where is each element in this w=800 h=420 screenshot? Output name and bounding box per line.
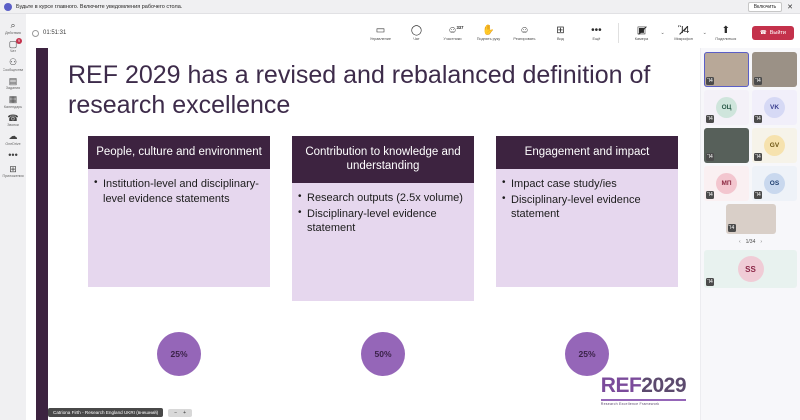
percent-badge: 25% bbox=[565, 332, 609, 376]
sidebar-item-label: Приложения bbox=[2, 174, 23, 178]
participant-row: Ἲ4 bbox=[704, 204, 797, 234]
percent-badge: 25% bbox=[157, 332, 201, 376]
microphone-glyph: Ἲ4 bbox=[707, 77, 713, 85]
app-rail: ⌕ Действия ▢ 9 Чат ⚇ Сообщества ▤ Задани… bbox=[0, 14, 26, 420]
enable-notifications-button[interactable]: Включить bbox=[748, 2, 782, 12]
percent-wrap: 25% bbox=[496, 332, 678, 376]
share-label: Поделиться bbox=[715, 37, 736, 41]
clock-icon bbox=[32, 30, 39, 37]
leave-call-button[interactable]: ☎ Выйти bbox=[752, 26, 794, 40]
slide-column-engagement: Engagement and impact Impact case study/… bbox=[496, 136, 678, 356]
ref-logo-wordmark: REF2029 bbox=[601, 374, 686, 398]
sidebar-item-label: Задания bbox=[6, 86, 20, 90]
presenter-name: Catriona Firth - Research England UKRI (… bbox=[48, 408, 163, 417]
microphone-button[interactable]: Ἲ4 Микрофон bbox=[666, 25, 702, 41]
microphone-glyph: Ἲ4 bbox=[729, 224, 735, 232]
sidebar-item-chat[interactable]: ▢ 9 Чат bbox=[0, 37, 26, 55]
apps-icon: ⊞ bbox=[9, 164, 17, 174]
teams-meeting-window: Будьте в курсе главного. Включите уведом… bbox=[0, 0, 800, 420]
camera-button[interactable]: ▣ Камера bbox=[623, 25, 659, 41]
chat-unread-badge: 9 bbox=[16, 38, 22, 44]
sidebar-item-label: Сообщества bbox=[3, 68, 24, 72]
microphone-glyph: Ἲ4 bbox=[707, 191, 713, 199]
avatar: GV bbox=[764, 135, 785, 156]
ref-logo-rule bbox=[601, 399, 686, 401]
mic-muted-icon: Ἲ4 bbox=[706, 115, 714, 123]
mic-muted-icon: Ἲ4 bbox=[706, 77, 714, 85]
column-heading: People, culture and environment bbox=[88, 136, 270, 169]
list-item: Impact case study/ies bbox=[502, 177, 670, 192]
mic-muted-icon: Ἲ4 bbox=[706, 191, 714, 199]
notification-banner-text: Будьте в курсе главного. Включите уведом… bbox=[16, 4, 182, 10]
mic-muted-icon: Ἲ4 bbox=[706, 278, 714, 286]
microphone-glyph: Ἲ4 bbox=[755, 77, 761, 85]
sidebar-item-more[interactable]: ••• bbox=[0, 148, 26, 161]
phone-hangup-icon: ☎ bbox=[760, 30, 767, 36]
participant-panel: Ἲ4 Ἲ4 ОЦ Ἲ4 VK Ἲ4 Ἲ4 GV Ἲ4 bbox=[700, 48, 800, 420]
close-icon[interactable]: ✕ bbox=[787, 3, 796, 11]
column-body: Research outputs (2.5x volume) Disciplin… bbox=[292, 183, 474, 301]
list-item: Research outputs (2.5x volume) bbox=[298, 191, 466, 206]
avatar: ОЦ bbox=[716, 97, 737, 118]
slide-column-contribution: Contribution to knowledge and understand… bbox=[292, 136, 474, 356]
react-button[interactable]: ☺ Реагировать bbox=[506, 25, 542, 41]
participant-tile-avatar[interactable]: ОЦ Ἲ4 bbox=[704, 90, 749, 125]
participant-row: SS Ἲ4 bbox=[704, 250, 797, 288]
sidebar-item-communities[interactable]: ⚇ Сообщества bbox=[0, 55, 26, 73]
percent-wrap: 50% bbox=[292, 332, 474, 376]
meeting-toolbar: 01:51:31 ▭ Управление ◯ Чат ☺ 337 Участн… bbox=[26, 14, 800, 52]
microphone-glyph: Ἲ4 bbox=[707, 278, 713, 286]
briefcase-icon: ▤ bbox=[9, 76, 18, 86]
view-label: Вид bbox=[557, 37, 564, 41]
column-heading: Engagement and impact bbox=[496, 136, 678, 169]
cloud-icon: ☁ bbox=[9, 131, 18, 141]
percent-wrap: 25% bbox=[88, 332, 270, 376]
view-button[interactable]: ⊞ Вид bbox=[542, 25, 578, 41]
bell-icon: ⌕ bbox=[10, 20, 15, 30]
mic-muted-icon: Ἲ4 bbox=[728, 224, 736, 232]
sidebar-item-assignments[interactable]: ▤ Задания bbox=[0, 74, 26, 92]
zoom-controls[interactable]: − + bbox=[168, 409, 192, 417]
share-button[interactable]: ⬆ Поделиться bbox=[708, 25, 744, 41]
calendar-icon: ▦ bbox=[9, 94, 18, 104]
participant-row: МП Ἲ4 OS Ἲ4 bbox=[704, 166, 797, 201]
bullet-list: Impact case study/ies Disciplinary-level… bbox=[502, 177, 670, 222]
list-item: Institution-level and disciplinary-level… bbox=[94, 177, 262, 206]
list-item: Disciplinary-level evidence statement bbox=[298, 207, 466, 236]
percent-badge: 50% bbox=[361, 332, 405, 376]
chat-button[interactable]: ◯ Чат bbox=[398, 25, 434, 41]
hand-icon: ✋ bbox=[482, 25, 494, 36]
raise-hand-button[interactable]: ✋ Поднять руку bbox=[470, 25, 506, 41]
microphone-off-icon: Ἲ4 bbox=[678, 25, 689, 36]
sidebar-item-label: Чат bbox=[10, 49, 16, 53]
meeting-timer: 01:51:31 bbox=[32, 30, 66, 37]
next-page-button[interactable]: › bbox=[760, 239, 762, 245]
column-body: Impact case study/ies Disciplinary-level… bbox=[496, 169, 678, 287]
chevron-down-icon[interactable]: ⌄ bbox=[703, 30, 707, 36]
raise-hand-label: Поднять руку bbox=[477, 37, 500, 41]
manage-label: Управление bbox=[370, 37, 391, 41]
emoji-icon: ☺ bbox=[519, 25, 529, 36]
participant-tile-video[interactable]: Ἲ4 bbox=[752, 52, 797, 87]
sidebar-item-onedrive[interactable]: ☁ OneDrive bbox=[0, 129, 26, 147]
ref-logo-year: 2029 bbox=[641, 374, 686, 397]
participants-label: Участники bbox=[443, 37, 461, 41]
mic-muted-icon: Ἲ4 bbox=[754, 191, 762, 199]
react-label: Реагировать bbox=[513, 37, 535, 41]
ellipsis-icon: ••• bbox=[8, 150, 17, 160]
camera-off-icon: ▣ bbox=[637, 25, 646, 36]
slide-accent-bar bbox=[36, 48, 48, 420]
manage-button[interactable]: ▭ Управление bbox=[362, 25, 398, 41]
more-button[interactable]: ••• Ещё bbox=[578, 25, 614, 41]
bullet-list: Research outputs (2.5x volume) Disciplin… bbox=[298, 191, 466, 236]
participants-count: 337 bbox=[456, 25, 463, 30]
shared-content-stage: REF 2029 has a revised and rebalanced de… bbox=[26, 48, 700, 420]
page-title: REF 2029 has a revised and rebalanced de… bbox=[68, 60, 688, 120]
grid-icon: ⊞ bbox=[556, 25, 564, 36]
participant-row: Ἲ4 GV Ἲ4 bbox=[704, 128, 797, 163]
participant-row: ОЦ Ἲ4 VK Ἲ4 bbox=[704, 90, 797, 125]
more-label: Ещё bbox=[593, 37, 601, 41]
column-body: Institution-level and disciplinary-level… bbox=[88, 169, 270, 287]
slide-column-people: People, culture and environment Institut… bbox=[88, 136, 270, 356]
sidebar-item-label: Звонки bbox=[7, 123, 19, 127]
microphone-glyph: Ἲ4 bbox=[755, 153, 761, 161]
leave-call-label: Выйти bbox=[770, 30, 786, 36]
toolbar-actions: ▭ Управление ◯ Чат ☺ 337 Участники ✋ Под… bbox=[362, 23, 794, 43]
column-heading: Contribution to knowledge and understand… bbox=[292, 136, 474, 183]
presenter-name-bar: Catriona Firth - Research England UKRI (… bbox=[48, 408, 192, 417]
mic-muted-icon: Ἲ4 bbox=[754, 115, 762, 123]
notification-banner: Будьте в курсе главного. Включите уведом… bbox=[0, 0, 800, 14]
camera-label: Камера bbox=[635, 37, 648, 41]
sidebar-item-label: Календарь bbox=[4, 105, 22, 109]
microphone-glyph: Ἲ4 bbox=[707, 115, 713, 123]
microphone-glyph: Ἲ4 bbox=[755, 115, 761, 123]
sidebar-item-label: Действия bbox=[5, 31, 21, 35]
participant-tile-video[interactable]: Ἲ4 bbox=[704, 128, 749, 163]
participant-tile-avatar[interactable]: OS Ἲ4 bbox=[752, 166, 797, 201]
participant-tile-avatar[interactable]: VK Ἲ4 bbox=[752, 90, 797, 125]
participant-tile-video[interactable]: Ἲ4 bbox=[704, 52, 749, 87]
bullet-list: Institution-level and disciplinary-level… bbox=[94, 177, 262, 206]
mic-muted-icon: Ἲ4 bbox=[706, 153, 714, 161]
ref-logo: REF2029 Research Excellence Framework bbox=[601, 374, 686, 406]
ref-logo-ref: REF bbox=[601, 374, 642, 397]
meeting-timer-text: 01:51:31 bbox=[43, 30, 66, 36]
participant-pagination: ‹ 1/34 › bbox=[704, 237, 797, 247]
participant-row: Ἲ4 Ἲ4 bbox=[704, 52, 797, 87]
people-icon: ⚇ bbox=[9, 57, 17, 67]
zoom-in-button[interactable]: + bbox=[183, 410, 186, 416]
participant-tile-avatar[interactable]: МП Ἲ4 bbox=[704, 166, 749, 201]
avatar: SS bbox=[738, 256, 764, 282]
microphone-label: Микрофон bbox=[674, 37, 693, 41]
toolbar-divider bbox=[618, 23, 619, 43]
notification-banner-actions: Включить ✕ bbox=[748, 2, 796, 12]
participant-tile-avatar[interactable]: SS Ἲ4 bbox=[704, 250, 797, 288]
avatar: МП bbox=[716, 173, 737, 194]
participant-tile-avatar[interactable]: GV Ἲ4 bbox=[752, 128, 797, 163]
phone-icon: ☎ bbox=[7, 113, 18, 123]
share-screen-icon: ⬆ bbox=[722, 25, 730, 36]
slide-columns: People, culture and environment Institut… bbox=[88, 136, 678, 356]
zoom-out-button[interactable]: − bbox=[174, 410, 177, 416]
microphone-glyph: Ἲ4 bbox=[755, 191, 761, 199]
mic-muted-icon: Ἲ4 bbox=[754, 153, 762, 161]
pagination-label: 1/34 bbox=[746, 239, 756, 245]
bell-icon bbox=[4, 3, 12, 11]
list-item: Disciplinary-level evidence statement bbox=[502, 193, 670, 222]
participant-tile-video[interactable]: Ἲ4 bbox=[726, 204, 776, 234]
prev-page-button[interactable]: ‹ bbox=[739, 239, 741, 245]
sidebar-item-apps[interactable]: ⊞ Приложения bbox=[0, 162, 26, 180]
avatar: OS bbox=[764, 173, 785, 194]
manage-icon: ▭ bbox=[376, 25, 385, 36]
sidebar-item-calendar[interactable]: ▦ Календарь bbox=[0, 92, 26, 110]
ellipsis-icon: ••• bbox=[591, 25, 602, 36]
ref-logo-subtitle: Research Excellence Framework bbox=[601, 402, 686, 406]
chat-label: Чат bbox=[413, 37, 419, 41]
mic-muted-icon: Ἲ4 bbox=[754, 77, 762, 85]
chevron-down-icon[interactable]: ⌄ bbox=[660, 30, 664, 36]
sidebar-item-activity[interactable]: ⌕ Действия bbox=[0, 18, 26, 36]
chat-icon: ◯ bbox=[411, 25, 422, 36]
sidebar-item-label: OneDrive bbox=[5, 142, 20, 146]
participants-button[interactable]: ☺ 337 Участники bbox=[434, 25, 470, 41]
avatar: VK bbox=[764, 97, 785, 118]
sidebar-item-calls[interactable]: ☎ Звонки bbox=[0, 111, 26, 129]
microphone-glyph: Ἲ4 bbox=[707, 153, 713, 161]
